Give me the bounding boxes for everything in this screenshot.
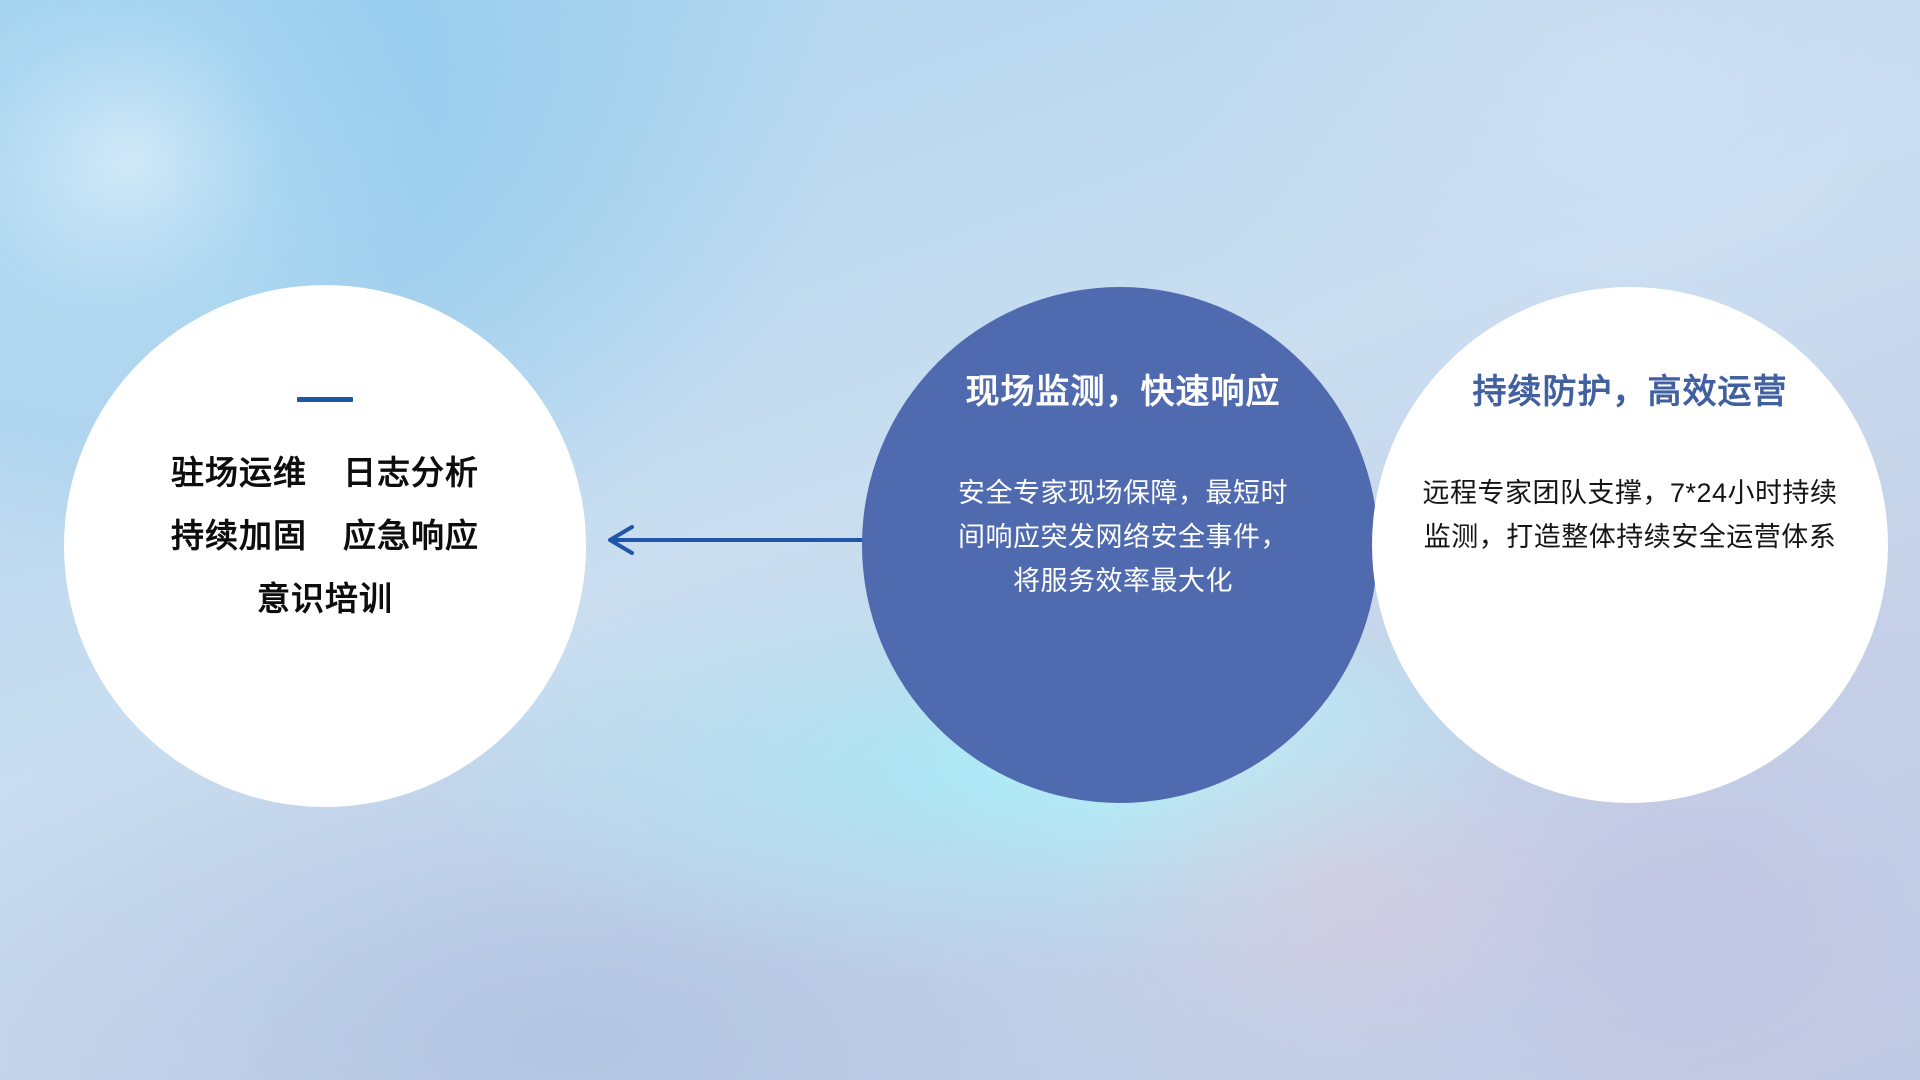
- capability-tag[interactable]: 持续加固: [171, 519, 307, 552]
- capability-tag[interactable]: 日志分析: [343, 456, 479, 489]
- right-circle-body: 远程专家团队支撑，7*24小时持续监测，打造整体持续安全运营体系: [1420, 472, 1840, 559]
- middle-circle[interactable]: 现场监测，快速响应 安全专家现场保障，最短时间响应突发网络安全事件，将服务效率最…: [862, 287, 1378, 803]
- slide-canvas: 驻场运维 日志分析 持续加固 应急响应 意识培训 现场监测，快速响应 安全专家现…: [0, 0, 1920, 1080]
- capability-tag[interactable]: 应急响应: [343, 519, 479, 552]
- left-circle[interactable]: 驻场运维 日志分析 持续加固 应急响应 意识培训: [64, 285, 586, 807]
- capability-tag[interactable]: 驻场运维: [171, 456, 307, 489]
- accent-divider: [297, 397, 353, 402]
- connector-arrow: [598, 518, 878, 562]
- middle-circle-body: 安全专家现场保障，最短时间响应突发网络安全事件，将服务效率最大化: [958, 472, 1288, 603]
- middle-circle-title: 现场监测，快速响应: [966, 373, 1281, 412]
- left-circle-content: 驻场运维 日志分析 持续加固 应急响应 意识培训: [64, 285, 586, 807]
- tag-row: 意识培训: [257, 582, 393, 615]
- right-circle-title: 持续防护，高效运营: [1473, 373, 1788, 412]
- tag-row: 持续加固 应急响应: [171, 519, 479, 552]
- right-circle[interactable]: 持续防护，高效运营 远程专家团队支撑，7*24小时持续监测，打造整体持续安全运营…: [1372, 287, 1888, 803]
- right-circle-content: 持续防护，高效运营 远程专家团队支撑，7*24小时持续监测，打造整体持续安全运营…: [1372, 287, 1888, 803]
- capability-tag-list: 驻场运维 日志分析 持续加固 应急响应 意识培训: [171, 456, 479, 615]
- tag-row: 驻场运维 日志分析: [171, 456, 479, 489]
- middle-circle-content: 现场监测，快速响应 安全专家现场保障，最短时间响应突发网络安全事件，将服务效率最…: [862, 287, 1378, 803]
- capability-tag[interactable]: 意识培训: [257, 582, 393, 615]
